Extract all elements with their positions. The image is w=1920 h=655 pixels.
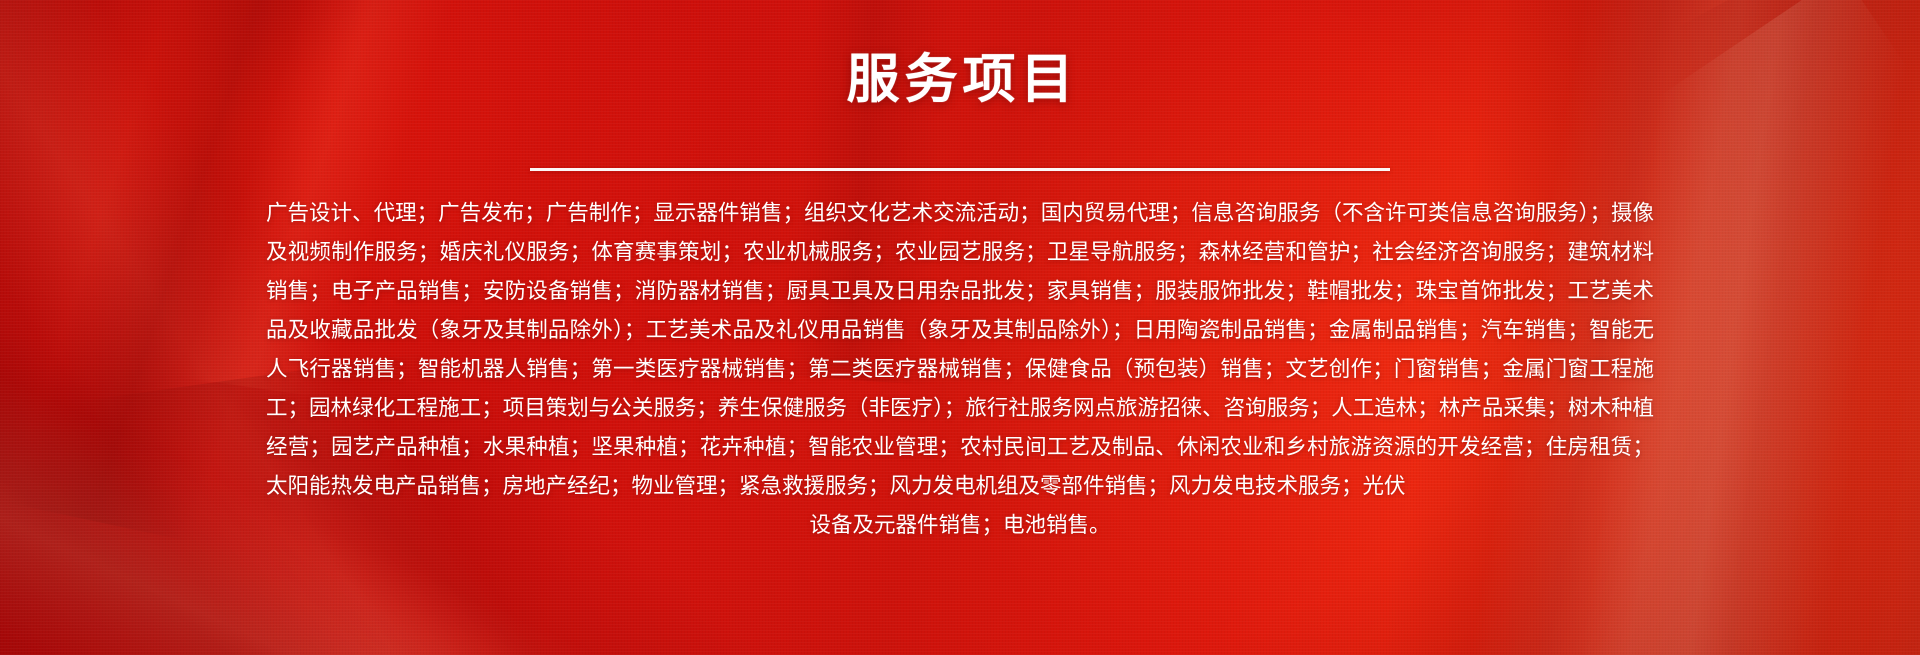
title-divider [530,168,1390,171]
service-scope-text: 广告设计、代理；广告发布；广告制作；显示器件销售；组织文化艺术交流活动；国内贸易… [266,194,1654,545]
service-scope-last-line: 设备及元器件销售；电池销售。 [266,506,1654,545]
service-scope-paragraph: 广告设计、代理；广告发布；广告制作；显示器件销售；组织文化艺术交流活动；国内贸易… [266,194,1654,506]
page-title: 服务项目 [0,49,1920,111]
service-banner: 服务项目 广告设计、代理；广告发布；广告制作；显示器件销售；组织文化艺术交流活动… [0,0,1920,655]
banner-content: 服务项目 广告设计、代理；广告发布；广告制作；显示器件销售；组织文化艺术交流活动… [0,0,1920,655]
